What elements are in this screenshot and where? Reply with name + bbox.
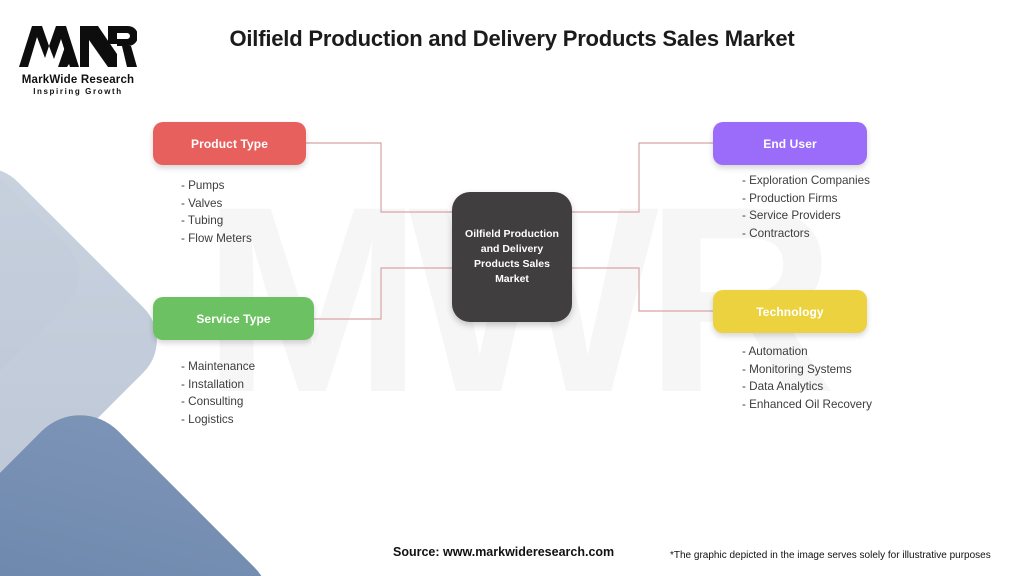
branch-label-product-type: Product Type	[191, 137, 268, 151]
branch-label-end-user: End User	[763, 137, 816, 151]
branch-items-technology: - Automation - Monitoring Systems - Data…	[742, 343, 872, 413]
hub-node[interactable]: Oilfield Production and Delivery Product…	[452, 192, 572, 322]
branch-items-service-type: - Maintenance - Installation - Consultin…	[181, 358, 255, 428]
list-item: - Pumps	[181, 177, 252, 195]
branch-label-service-type: Service Type	[196, 312, 270, 326]
branch-label-technology: Technology	[756, 305, 823, 319]
branch-node-product-type[interactable]: Product Type	[153, 122, 306, 165]
list-item: - Exploration Companies	[742, 172, 870, 190]
list-item: - Flow Meters	[181, 230, 252, 248]
disclaimer-text: *The graphic depicted in the image serve…	[670, 550, 991, 561]
infographic-canvas: MWR MarkWide Research Inspiring Growth O…	[0, 0, 1024, 576]
branch-items-end-user: - Exploration Companies - Production Fir…	[742, 172, 870, 242]
list-item: - Production Firms	[742, 190, 870, 208]
list-item: - Data Analytics	[742, 378, 872, 396]
list-item: - Enhanced Oil Recovery	[742, 396, 872, 414]
hub-node-label: Oilfield Production and Delivery Product…	[457, 227, 567, 288]
list-item: - Service Providers	[742, 207, 870, 225]
source-text: Source: www.markwideresearch.com	[393, 545, 614, 559]
branch-node-end-user[interactable]: End User	[713, 122, 867, 165]
list-item: - Contractors	[742, 225, 870, 243]
branch-items-product-type: - Pumps - Valves - Tubing - Flow Meters	[181, 177, 252, 247]
list-item: - Automation	[742, 343, 872, 361]
list-item: - Maintenance	[181, 358, 255, 376]
list-item: - Logistics	[181, 411, 255, 429]
list-item: - Installation	[181, 376, 255, 394]
branch-node-service-type[interactable]: Service Type	[153, 297, 314, 340]
list-item: - Consulting	[181, 393, 255, 411]
list-item: - Tubing	[181, 212, 252, 230]
list-item: - Valves	[181, 195, 252, 213]
branch-node-technology[interactable]: Technology	[713, 290, 867, 333]
list-item: - Monitoring Systems	[742, 361, 872, 379]
